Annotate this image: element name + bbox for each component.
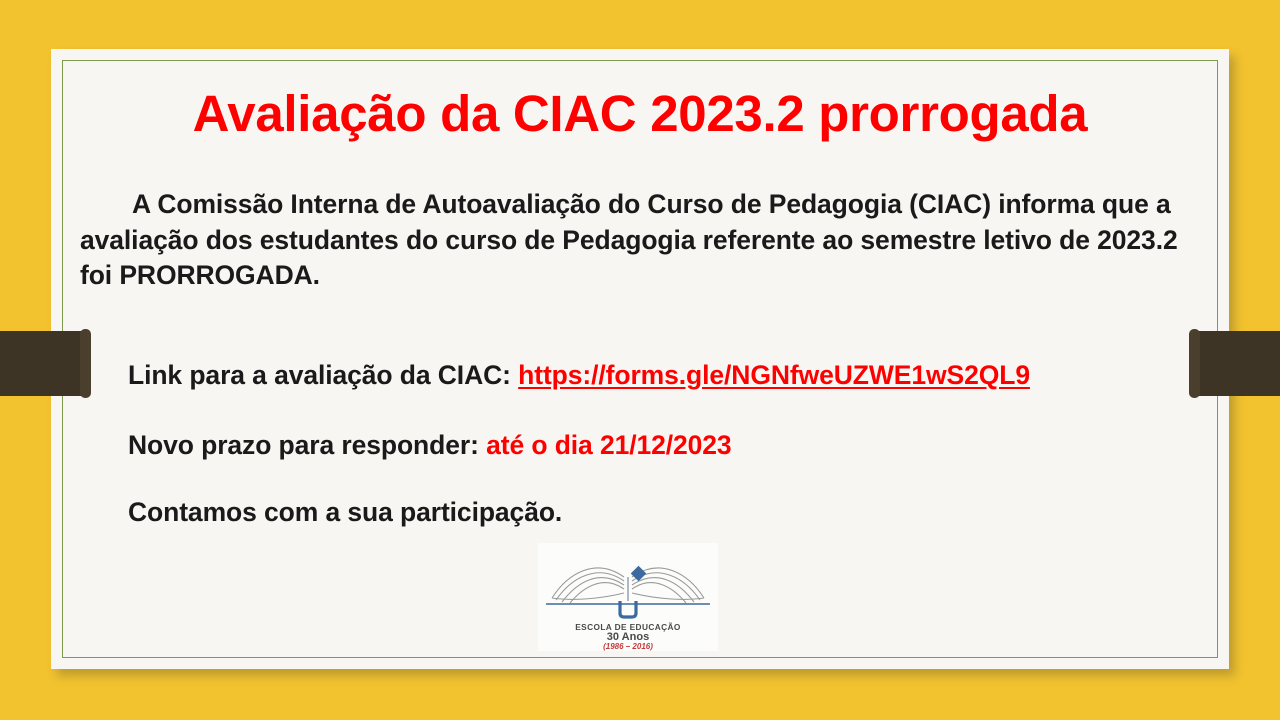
body-paragraph: A Comissão Interna de Autoavaliação do C… [80,187,1204,294]
ciac-form-link[interactable]: https://forms.gle/NGNfweUZWE1wS2QL9 [518,360,1030,390]
thanks-line: Contamos com a sua participação. [128,497,562,528]
slide-content: Avaliação da CIAC 2023.2 prorrogada A Co… [51,49,1229,669]
deadline-label: Novo prazo para responder: [128,430,486,460]
deadline-value: até o dia 21/12/2023 [486,430,732,460]
slide-background: Avaliação da CIAC 2023.2 prorrogada A Co… [0,0,1280,720]
link-line: Link para a avaliação da CIAC: https://f… [128,360,1030,391]
page-title: Avaliação da CIAC 2023.2 prorrogada [51,87,1229,141]
link-line-label: Link para a avaliação da CIAC: [128,360,518,390]
logo-line-3: (1986 – 2016) [603,642,653,651]
logo-graphic: ESCOLA DE EDUCAÇÃO 30 Anos (1986 – 2016) [538,543,718,651]
escola-de-educacao-logo: ESCOLA DE EDUCAÇÃO 30 Anos (1986 – 2016) [538,543,718,651]
deadline-line: Novo prazo para responder: até o dia 21/… [128,430,732,461]
